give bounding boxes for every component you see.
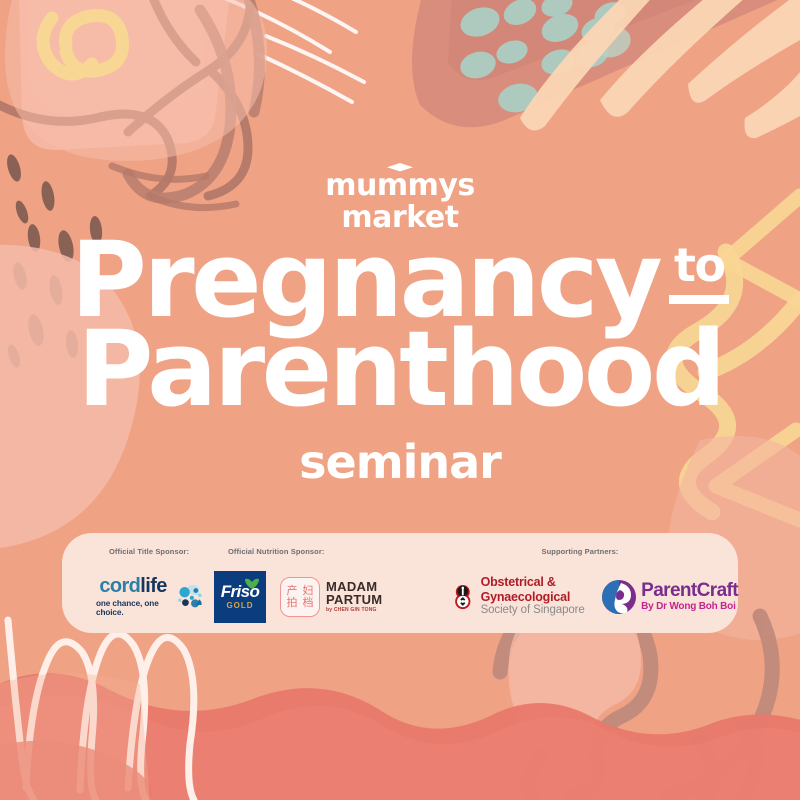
madam-char-3: 拍 bbox=[287, 597, 298, 609]
sponsor-group-title: Official Title Sponsor: cordlife one cha… bbox=[62, 533, 202, 633]
sponsor-group-supporting-logos: Obstetrical & Gynaecological Society of … bbox=[452, 556, 738, 633]
sponsor-group-nutrition-label: Official Nutrition Sponsor: bbox=[214, 547, 438, 556]
logo-madam-partum-line3: by CHEN GIN TONG bbox=[326, 608, 382, 613]
title-superscript-underline bbox=[669, 295, 729, 304]
green-leaf-icon bbox=[244, 577, 260, 590]
poster-canvas: mummys market Pregnancy to Parenthood se… bbox=[0, 0, 800, 800]
madam-char-2: 妇 bbox=[303, 585, 314, 597]
sponsor-group-supporting-label: Supporting Partners: bbox=[452, 547, 738, 556]
logo-friso[interactable]: Friso GOLD bbox=[214, 571, 266, 623]
brand-logo-line1: mummys bbox=[325, 171, 475, 201]
title-block: Pregnancy to Parenthood seminar bbox=[0, 232, 800, 489]
logo-ogss-line2: Society of Singapore bbox=[481, 604, 588, 618]
sponsor-group-title-label: Official Title Sponsor: bbox=[96, 547, 202, 556]
logo-madam-partum-badge: 产 妇 拍 档 bbox=[280, 577, 320, 617]
title-line2: Parenthood bbox=[77, 321, 723, 418]
logo-cordlife-tagline: one chance, one choice. bbox=[96, 599, 170, 617]
bubbles-cluster-icon bbox=[175, 582, 202, 612]
logo-parentcraft-line2: By Dr Wong Boh Boi bbox=[641, 602, 738, 613]
logo-parentcraft-text: ParentCraft By Dr Wong Boh Boi bbox=[641, 581, 738, 612]
logo-ogss[interactable]: Obstetrical & Gynaecological Society of … bbox=[452, 575, 587, 618]
logo-parentcraft[interactable]: ParentCraft By Dr Wong Boh Boi bbox=[601, 578, 738, 616]
logo-ogss-line1: Obstetrical & Gynaecological bbox=[481, 575, 588, 605]
sponsor-group-nutrition: Official Nutrition Sponsor: Friso GOLD 产… bbox=[202, 533, 438, 633]
sponsor-card: Official Title Sponsor: cordlife one cha… bbox=[62, 533, 738, 633]
logo-madam-partum-line2: PARTUM bbox=[326, 593, 382, 606]
title-subtitle: seminar bbox=[0, 435, 800, 489]
sponsor-group-nutrition-logos: Friso GOLD 产 妇 拍 档 MADAM PARTUM bbox=[214, 556, 438, 633]
parentcraft-swirl-icon bbox=[601, 578, 637, 616]
logo-cordlife-name: cordlife bbox=[99, 576, 166, 596]
sponsor-groups: Official Title Sponsor: cordlife one cha… bbox=[62, 533, 738, 633]
title-superscript-group: to bbox=[669, 242, 729, 304]
logo-madam-partum-text: MADAM PARTUM by CHEN GIN TONG bbox=[326, 580, 382, 614]
logo-cordlife-name-part1: cord bbox=[99, 575, 140, 597]
logo-friso-sub: GOLD bbox=[226, 601, 253, 610]
ogss-crest-icon bbox=[452, 577, 474, 617]
logo-cordlife-name-part2: life bbox=[140, 575, 167, 597]
logo-madam-partum-line1: MADAM bbox=[326, 580, 382, 593]
sponsor-group-supporting: Supporting Partners: bbox=[438, 533, 738, 633]
logo-parentcraft-line1: ParentCraft bbox=[641, 581, 738, 601]
madam-char-4: 档 bbox=[303, 597, 314, 609]
logo-madam-partum[interactable]: 产 妇 拍 档 MADAM PARTUM by CHEN GIN TONG bbox=[280, 577, 382, 617]
madam-char-1: 产 bbox=[287, 585, 298, 597]
sponsor-group-title-logos: cordlife one chance, one choice. bbox=[96, 556, 202, 633]
title-line2-row: Parenthood bbox=[0, 321, 800, 418]
logo-cordlife-text: cordlife one chance, one choice. bbox=[96, 576, 170, 617]
title-superscript-to: to bbox=[674, 242, 725, 288]
logo-ogss-text: Obstetrical & Gynaecological Society of … bbox=[481, 575, 588, 618]
logo-cordlife[interactable]: cordlife one chance, one choice. bbox=[96, 576, 202, 617]
